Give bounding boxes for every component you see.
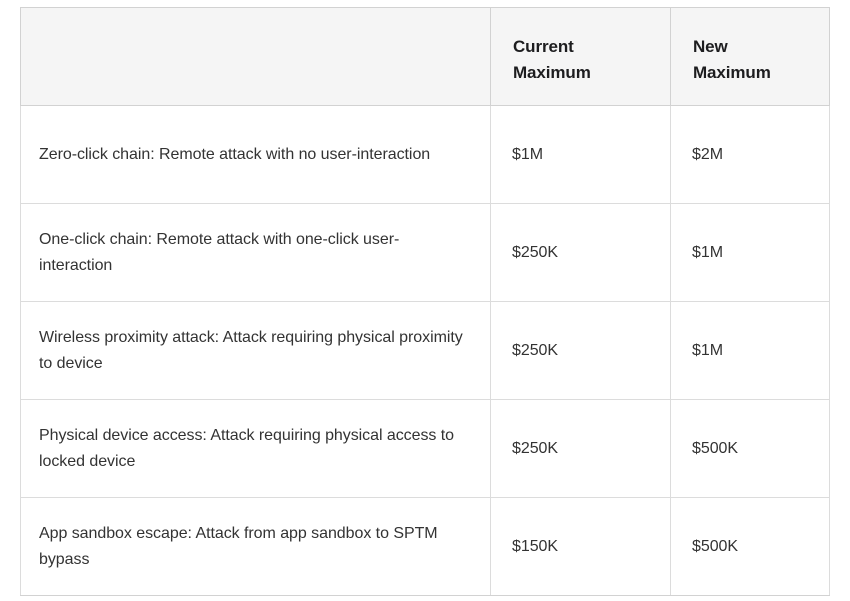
column-header-new-line2: Maximum (693, 60, 807, 86)
table-row: Zero-click chain: Remote attack with no … (21, 106, 830, 204)
table-header-row: Current Maximum New Maximum (21, 8, 830, 106)
cell-category: Physical device access: Attack requiring… (21, 400, 491, 498)
cell-category: One-click chain: Remote attack with one-… (21, 204, 491, 302)
table-row: App sandbox escape: Attack from app sand… (21, 498, 830, 596)
category-text: Wireless proximity attack: Attack requir… (39, 325, 469, 377)
column-header-category (21, 8, 491, 106)
table-row: One-click chain: Remote attack with one-… (21, 204, 830, 302)
cell-current-maximum: $250K (491, 302, 671, 400)
cell-current-maximum: $250K (491, 400, 671, 498)
table-header: Current Maximum New Maximum (21, 8, 830, 106)
bounty-table-container: Current Maximum New Maximum Zero-click c… (20, 7, 829, 596)
category-text: App sandbox escape: Attack from app sand… (39, 521, 469, 573)
page-root: Current Maximum New Maximum Zero-click c… (0, 0, 850, 601)
cell-new-maximum: $500K (671, 498, 830, 596)
cell-category: Wireless proximity attack: Attack requir… (21, 302, 491, 400)
table-row: Physical device access: Attack requiring… (21, 400, 830, 498)
cell-current-maximum: $150K (491, 498, 671, 596)
cell-category: Zero-click chain: Remote attack with no … (21, 106, 491, 204)
table-body: Zero-click chain: Remote attack with no … (21, 106, 830, 596)
cell-new-maximum: $500K (671, 400, 830, 498)
cell-current-maximum: $1M (491, 106, 671, 204)
column-header-current-line1: Current (513, 34, 648, 60)
column-header-current-maximum: Current Maximum (491, 8, 671, 106)
column-header-new-maximum: New Maximum (671, 8, 830, 106)
category-text: Zero-click chain: Remote attack with no … (39, 142, 469, 168)
category-text: Physical device access: Attack requiring… (39, 423, 469, 475)
cell-new-maximum: $1M (671, 204, 830, 302)
bounty-table: Current Maximum New Maximum Zero-click c… (20, 7, 830, 596)
cell-new-maximum: $2M (671, 106, 830, 204)
category-text: One-click chain: Remote attack with one-… (39, 227, 469, 279)
cell-new-maximum: $1M (671, 302, 830, 400)
cell-category: App sandbox escape: Attack from app sand… (21, 498, 491, 596)
cell-current-maximum: $250K (491, 204, 671, 302)
column-header-new-line1: New (693, 34, 807, 60)
column-header-current-line2: Maximum (513, 60, 648, 86)
table-row: Wireless proximity attack: Attack requir… (21, 302, 830, 400)
